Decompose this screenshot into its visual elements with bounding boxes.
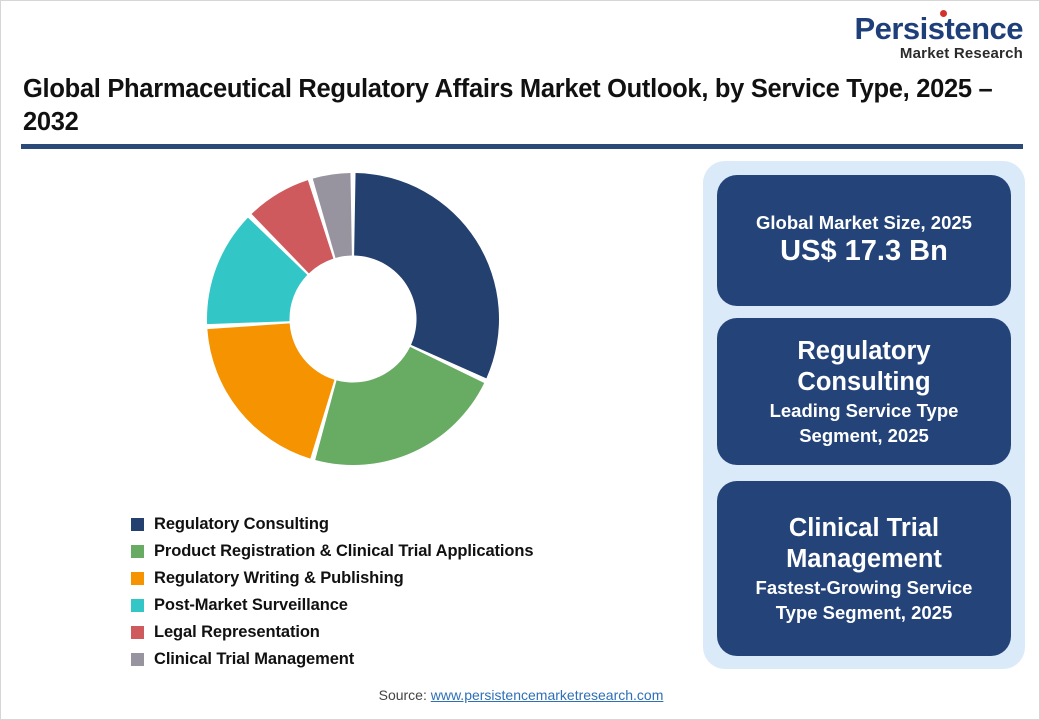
donut-chart: Regulatory Consulting: 32%Product Regist… [201,167,505,471]
title-divider [21,144,1023,149]
legend-item[interactable]: Regulatory Writing & Publishing [131,565,533,592]
page-title: Global Pharmaceutical Regulatory Affairs… [23,73,1023,138]
legend-item[interactable]: Clinical Trial Management [131,646,533,673]
company-logo: Persistence Market Research [854,13,1023,61]
donut-slice: Regulatory Writing & Publishing: 19.7% [207,323,334,458]
legend-item[interactable]: Post-Market Surveillance [131,592,533,619]
source-prefix: Source: [379,687,431,703]
callout-leading-segment-name-line1: Regulatory [797,336,930,367]
logo-brand-label: Persistence [854,11,1023,46]
callout-market-size-label: Global Market Size, 2025 [756,212,972,235]
legend-swatch-icon [131,599,144,612]
legend-item[interactable]: Product Registration & Clinical Trial Ap… [131,538,533,565]
callout-leading-segment: Regulatory Consulting Leading Service Ty… [717,318,1011,465]
callout-fastest-growing-segment: Clinical Trial Management Fastest-Growin… [717,481,1011,656]
source-line: Source: www.persistencemarketresearch.co… [1,687,1040,703]
highlights-panel: Global Market Size, 2025 US$ 17.3 Bn Reg… [703,161,1025,669]
legend-item-label: Post-Market Surveillance [154,596,348,615]
legend-swatch-icon [131,626,144,639]
legend-item-label: Regulatory Consulting [154,515,329,534]
legend-item[interactable]: Regulatory Consulting [131,511,533,538]
legend-item[interactable]: Legal Representation [131,619,533,646]
source-link[interactable]: www.persistencemarketresearch.com [431,687,664,703]
chart-legend: Regulatory ConsultingProduct Registratio… [131,511,533,673]
callout-fastest-segment-desc-line1: Fastest-Growing Service [756,577,973,600]
legend-swatch-icon [131,653,144,666]
donut-slice: Regulatory Consulting: 32% [354,173,499,378]
legend-item-label: Clinical Trial Management [154,650,354,669]
callout-market-size: Global Market Size, 2025 US$ 17.3 Bn [717,175,1011,306]
infographic-page: Persistence Market Research Global Pharm… [0,0,1040,720]
callout-leading-segment-desc-line1: Leading Service Type [770,400,959,423]
legend-item-label: Regulatory Writing & Publishing [154,569,404,588]
donut-slice-group: Regulatory Consulting: 32%Product Regist… [207,173,499,465]
legend-swatch-icon [131,545,144,558]
callout-fastest-segment-name-line1: Clinical Trial [789,513,939,544]
legend-item-label: Product Registration & Clinical Trial Ap… [154,542,533,561]
donut-chart-svg: Regulatory Consulting: 32%Product Regist… [201,167,505,471]
callout-leading-segment-desc-line2: Segment, 2025 [799,425,929,448]
logo-brand-text: Persistence [854,13,1023,44]
logo-subtitle: Market Research [854,46,1023,61]
callout-market-size-value: US$ 17.3 Bn [780,234,948,269]
legend-swatch-icon [131,572,144,585]
callout-leading-segment-name-line2: Consulting [797,367,930,398]
callout-fastest-segment-name-line2: Management [786,544,942,575]
legend-swatch-icon [131,518,144,531]
callout-fastest-segment-desc-line2: Type Segment, 2025 [776,602,953,625]
legend-item-label: Legal Representation [154,623,320,642]
